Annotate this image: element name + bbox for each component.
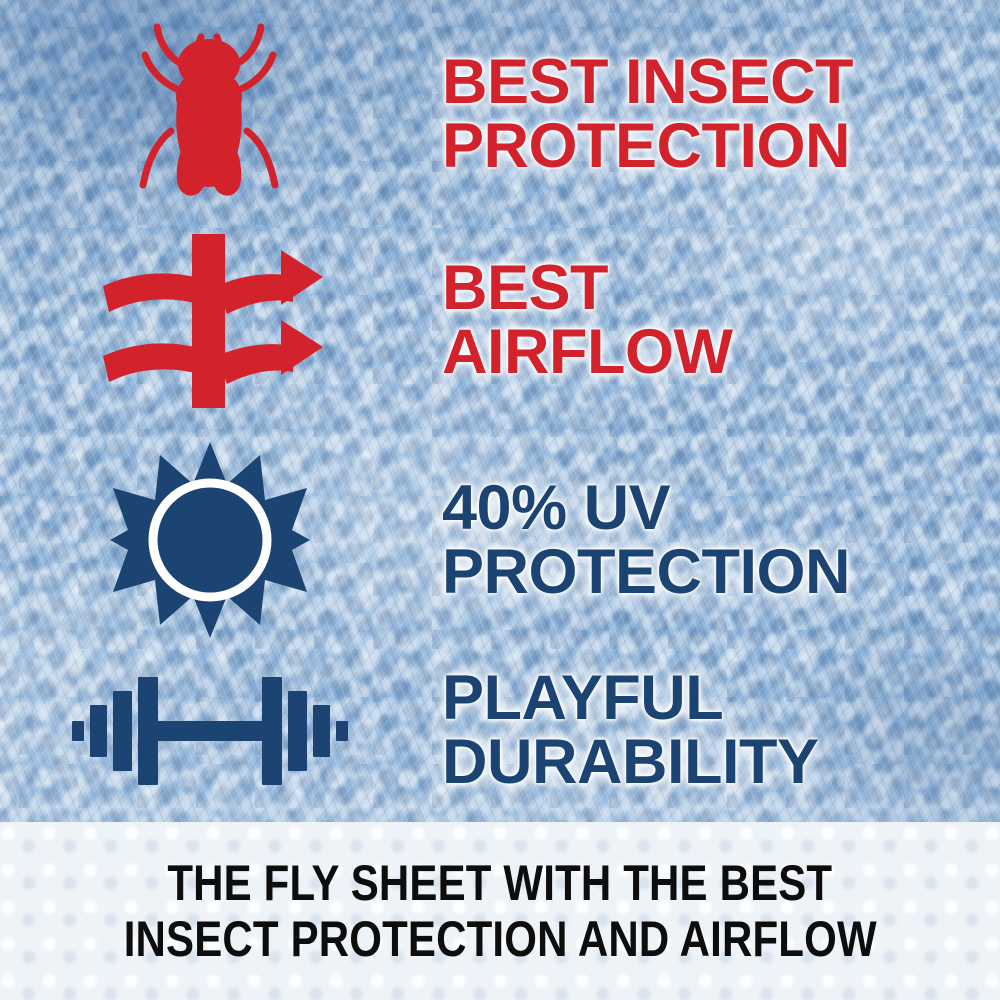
feature-icon-cell [0,665,420,795]
dumbbell-icon [70,665,350,795]
product-feature-poster: BEST INSECT PROTECTION [0,0,1000,1000]
feature-text-cell: 40% UV PROTECTION [420,476,1000,605]
banner-line-2: INSECT PROTECTION AND AIRFLOW [123,911,876,967]
feature-label-uv-protection: 40% UV PROTECTION [442,476,1000,605]
feature-icon-cell [0,440,420,640]
feature-icon-cell [0,228,420,413]
feature-label-insect-protection: BEST INSECT PROTECTION [442,50,1000,179]
feature-icon-cell [0,19,420,209]
feature-row-uv-protection: 40% UV PROTECTION [0,440,1000,640]
feature-label-airflow: BEST AIRFLOW [442,256,1000,385]
sun-uv-icon [110,440,310,640]
feature-list: BEST INSECT PROTECTION [0,0,1000,822]
feature-row-insect-protection: BEST INSECT PROTECTION [0,14,1000,214]
feature-label-durability: PLAYFUL DURABILITY [442,666,1000,795]
banner-line-1: THE FLY SHEET WITH THE BEST [168,855,833,911]
feature-row-durability: PLAYFUL DURABILITY [0,655,1000,805]
feature-text-cell: BEST INSECT PROTECTION [420,50,1000,179]
bottom-banner: THE FLY SHEET WITH THE BEST INSECT PROTE… [0,822,1000,1000]
feature-row-airflow: BEST AIRFLOW [0,225,1000,415]
feature-text-cell: BEST AIRFLOW [420,256,1000,385]
feature-text-cell: PLAYFUL DURABILITY [420,666,1000,795]
airflow-icon [95,228,325,413]
fly-icon [125,19,295,209]
